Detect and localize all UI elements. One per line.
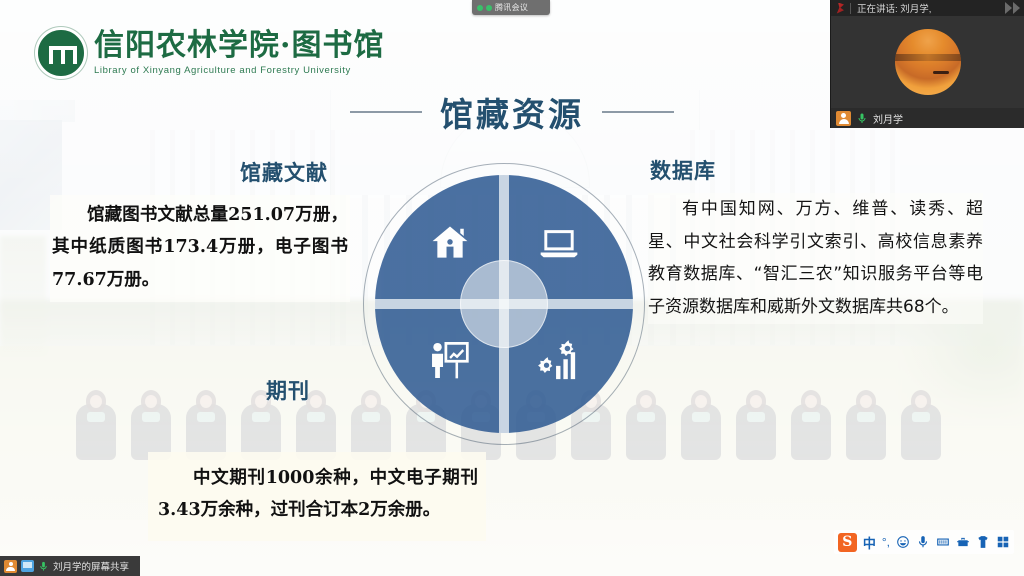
toolbox-icon[interactable] — [956, 535, 970, 549]
video-panel-topbar: 正在讲话: 刘月学, — [831, 0, 1024, 16]
title-rule-right — [602, 111, 674, 113]
library-emblem-icon — [38, 30, 84, 76]
section-heading-journals: 期刊 — [266, 375, 310, 405]
home-icon — [418, 209, 462, 270]
donut-graphic — [375, 175, 633, 433]
collapse-panel-button[interactable] — [1005, 2, 1020, 14]
section-heading-collection: 馆藏文献 — [240, 157, 328, 187]
section-body-journals: 中文期刊1000余种，中文电子期刊3.43万余种，过刊合订本2万余册。 — [148, 452, 486, 541]
screen-share-label: 刘月学的屏幕共享 — [53, 559, 129, 573]
section-heading-database: 数据库 — [650, 155, 716, 185]
library-logo: 信阳农林学院·图书馆 Library of Xinyang Agricultur… — [38, 30, 384, 76]
speaking-status-label: 正在讲话: 刘月学, — [857, 1, 931, 15]
microphone-icon-share[interactable] — [38, 560, 49, 573]
section-body-database: 有中国知网、万方、维普、读秀、超星、中文社会科学引文索引、高校信息素养教育数据库… — [648, 193, 983, 324]
divider — [850, 3, 851, 14]
skin-icon[interactable] — [976, 535, 990, 549]
emoji-icon[interactable] — [896, 535, 910, 549]
soft-keyboard-icon[interactable] — [936, 535, 950, 549]
gear-bar-chart-icon — [547, 338, 591, 399]
participant-name: 刘月学 — [873, 111, 903, 126]
person-icon — [836, 111, 851, 126]
page-title: 馆藏资源 — [440, 88, 584, 136]
chinese-mode-icon[interactable]: 中 — [863, 533, 876, 552]
screen-share-bar[interactable]: 刘月学的屏幕共享 — [0, 556, 140, 576]
avatar — [895, 29, 961, 95]
tencent-meeting-tab[interactable]: 腾讯会议 — [472, 0, 550, 15]
microphone-icon[interactable] — [856, 111, 868, 126]
chevron-right-icon — [1005, 2, 1012, 14]
voice-input-icon[interactable] — [916, 535, 930, 549]
presentation-chart-icon — [418, 338, 462, 399]
title-rule-left — [350, 111, 422, 113]
screen-share-icon[interactable] — [21, 560, 34, 572]
library-name-cn: 信阳农林学院·图书馆 — [94, 30, 384, 62]
app-badge-icon — [835, 3, 844, 14]
screen-share-slide: 信阳农林学院·图书馆 Library of Xinyang Agricultur… — [0, 0, 1024, 576]
status-dot-icon-2 — [486, 5, 492, 11]
video-panel[interactable]: 正在讲话: 刘月学, 刘月学 — [830, 0, 1024, 128]
donut-center-hole — [460, 260, 548, 348]
status-dot-icon — [477, 5, 483, 11]
sogou-ime-toolbar[interactable]: S 中 °, — [834, 530, 1014, 554]
video-panel-namebar: 刘月学 — [831, 108, 1024, 128]
section-body-collection: 馆藏图书文献总量251.07万册，其中纸质图书173.4万册，电子图书77.67… — [50, 195, 350, 302]
sogou-logo-icon[interactable]: S — [838, 533, 857, 552]
library-name-en: Library of Xinyang Agriculture and Fores… — [94, 65, 384, 76]
person-icon-share — [4, 560, 17, 573]
chevron-right-icon-2 — [1013, 2, 1020, 14]
punctuation-icon[interactable]: °, — [882, 536, 890, 548]
apps-grid-icon[interactable] — [996, 535, 1010, 549]
video-tile[interactable] — [831, 16, 1024, 108]
tencent-meeting-tab-label: 腾讯会议 — [495, 2, 528, 13]
laptop-icon — [547, 209, 591, 270]
